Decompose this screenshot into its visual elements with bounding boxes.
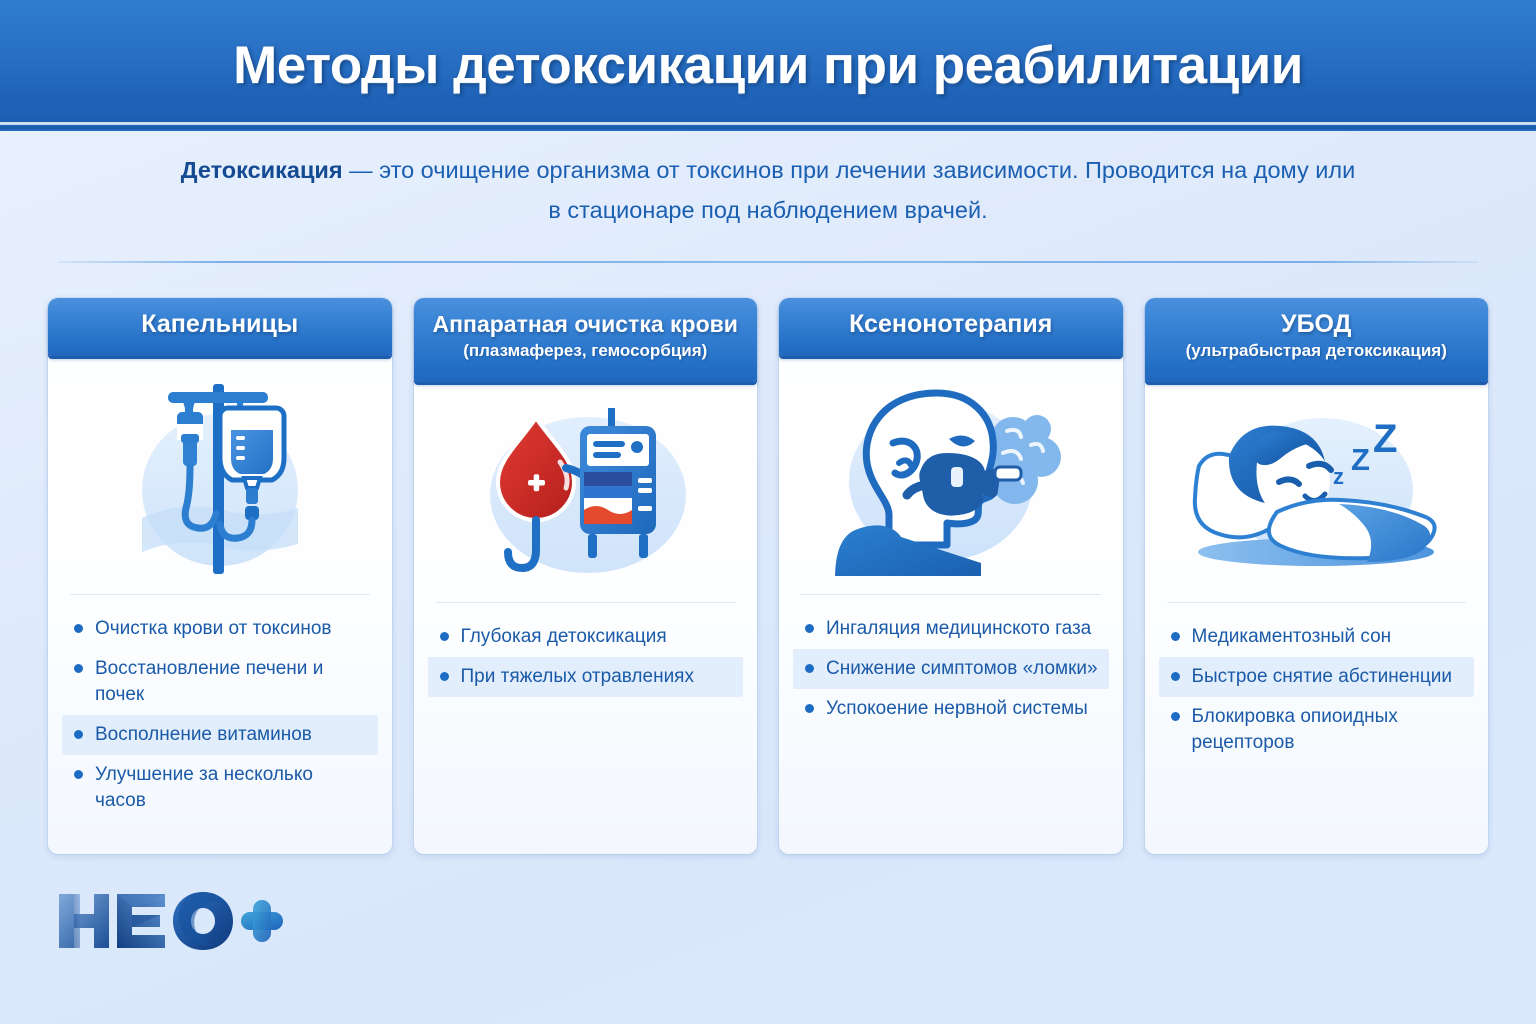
bullet-dot <box>805 704 814 713</box>
bullet-dot <box>805 664 814 673</box>
svg-text:Z: Z <box>1373 417 1397 461</box>
card-bullets: Глубокая детоксикация При тяжелых отравл… <box>414 602 758 697</box>
intro-body: — это очищение организма от токсинов при… <box>343 157 1356 223</box>
method-card-hardware-blood[interactable]: Аппаратная очистка крови (плазмаферез, г… <box>414 298 758 854</box>
bullet-dot <box>74 730 83 739</box>
list-item[interactable]: Снижение симптомов «ломки» <box>793 649 1109 689</box>
card-illustration <box>48 364 392 592</box>
page-title: Методы детоксикации при реабилитации <box>193 35 1343 96</box>
bullet-dot <box>1171 672 1180 681</box>
card-illustration <box>779 364 1123 592</box>
list-item[interactable]: Очистка крови от токсинов <box>62 609 378 649</box>
card-title: УБОД <box>1155 309 1479 339</box>
list-item[interactable]: Блокировка опиоидных рецепторов <box>1159 697 1475 763</box>
bullet-dot <box>74 770 83 779</box>
list-item[interactable]: Ингаляция медицинското газа <box>793 609 1109 649</box>
card-subtitle: (плазмаферез, гемосорбция) <box>424 340 748 362</box>
card-illustration: z Z Z <box>1145 390 1489 600</box>
card-header: Ксенонотерапия <box>779 298 1123 356</box>
method-card-xenon[interactable]: Ксенонотерапия <box>779 298 1123 854</box>
method-card-drip[interactable]: Капельницы <box>48 298 392 854</box>
list-item[interactable]: Медикаментозный сон <box>1159 617 1475 657</box>
card-bullets: Ингаляция медицинското газа Снижение сим… <box>779 594 1123 729</box>
sleeping-patient-icon: z Z Z <box>1181 408 1451 583</box>
bullet-dot <box>1171 632 1180 641</box>
bullets-rule <box>70 594 370 595</box>
card-title: Ксенонотерапия <box>789 309 1113 339</box>
method-cards: Капельницы <box>48 298 1488 854</box>
infographic-page: Методы детоксикации при реабилитации Дет… <box>0 0 1536 1024</box>
list-item[interactable]: Восстановление печени и почек <box>62 649 378 715</box>
card-title: Капельницы <box>58 309 382 339</box>
card-bullets: Очистка крови от токсинов Восстановление… <box>48 594 392 821</box>
bullet-dot <box>440 672 449 681</box>
bullet-label: При тяжелых отравлениях <box>461 664 694 690</box>
bullet-label: Медикаментозный сон <box>1192 624 1392 650</box>
xenon-inhalation-mask-icon <box>831 381 1071 576</box>
bullet-label: Глубокая детоксикация <box>461 624 667 650</box>
list-item[interactable]: Глубокая детоксикация <box>428 617 744 657</box>
card-subtitle: (ультрабыстрая детоксикация) <box>1155 340 1479 362</box>
card-bullets: Медикаментозный сон Быстрое снятие абсти… <box>1145 602 1489 763</box>
svg-text:Z: Z <box>1351 442 1370 477</box>
list-item[interactable]: При тяжелых отравлениях <box>428 657 744 697</box>
neo-plus-logo[interactable] <box>55 888 285 954</box>
card-header: УБОД (ультрабыстрая детоксикация) <box>1145 298 1489 382</box>
iv-drip-icon <box>120 378 320 578</box>
bullet-label: Быстрое снятие абстиненции <box>1192 664 1452 690</box>
intro-text: Детоксикация — это очищение организма от… <box>178 150 1358 230</box>
bullet-label: Снижение симптомов «ломки» <box>826 656 1098 682</box>
list-item[interactable]: Улучшение за несколько часов <box>62 755 378 821</box>
intro-divider <box>58 261 1478 263</box>
bullet-dot <box>440 632 449 641</box>
bullet-dot <box>805 624 814 633</box>
bullet-label: Ингаляция медицинското газа <box>826 616 1091 642</box>
bullet-dot <box>74 624 83 633</box>
svg-text:z: z <box>1333 464 1344 489</box>
bullets-rule <box>801 594 1101 595</box>
bullet-dot <box>1171 712 1180 721</box>
card-header: Аппаратная очистка крови (плазмаферез, г… <box>414 298 758 382</box>
bullets-rule <box>436 602 736 603</box>
bullet-label: Блокировка опиоидных рецепторов <box>1192 704 1465 756</box>
bullets-rule <box>1167 602 1467 603</box>
card-illustration <box>414 390 758 600</box>
method-card-ubod[interactable]: УБОД (ультрабыстрая детоксикация) <box>1145 298 1489 854</box>
bullet-label: Очистка крови от токсинов <box>95 616 331 642</box>
bullet-label: Улучшение за несколько часов <box>95 762 368 814</box>
intro-block: Детоксикация — это очищение организма от… <box>0 150 1536 230</box>
intro-lead: Детоксикация <box>181 157 343 183</box>
bullet-label: Восстановление печени и почек <box>95 656 368 708</box>
neo-plus-logo-mark <box>55 888 285 954</box>
list-item[interactable]: Быстрое снятие абстиненции <box>1159 657 1475 697</box>
bullet-dot <box>74 664 83 673</box>
bullet-label: Восполнение витаминов <box>95 722 312 748</box>
blood-purification-icon <box>470 400 700 590</box>
card-title: Аппаратная очистка крови <box>424 309 748 339</box>
page-header: Методы детоксикации при реабилитации <box>0 0 1536 131</box>
bullet-label: Успокоение нервной системы <box>826 696 1088 722</box>
list-item[interactable]: Восполнение витаминов <box>62 715 378 755</box>
card-header: Капельницы <box>48 298 392 356</box>
list-item[interactable]: Успокоение нервной системы <box>793 689 1109 729</box>
